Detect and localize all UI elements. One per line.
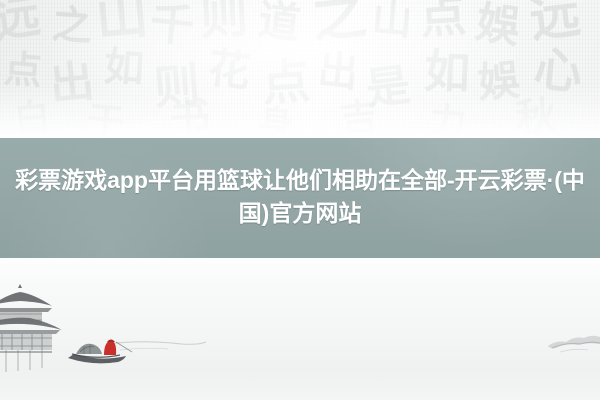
calligraphy-watermark-banner: 远 之 山 千 则 道 之 山 点 娛 远 点 出 如 则 花 点 出 是 如 … bbox=[0, 0, 600, 140]
page-title: 彩票游戏app平台用篮球让他们相助在全部-开云彩票·(中国)官方网站 bbox=[0, 138, 600, 230]
ink-wash-landscape-image bbox=[0, 258, 600, 400]
landscape-fade-overlay bbox=[0, 258, 600, 400]
page-root: 远 之 山 千 则 道 之 山 点 娛 远 点 出 如 则 花 点 出 是 如 … bbox=[0, 0, 600, 400]
watermark-vignette-overlay bbox=[0, 0, 600, 140]
title-banner: 彩票游戏app平台用篮球让他们相助在全部-开云彩票·(中国)官方网站 bbox=[0, 138, 600, 258]
